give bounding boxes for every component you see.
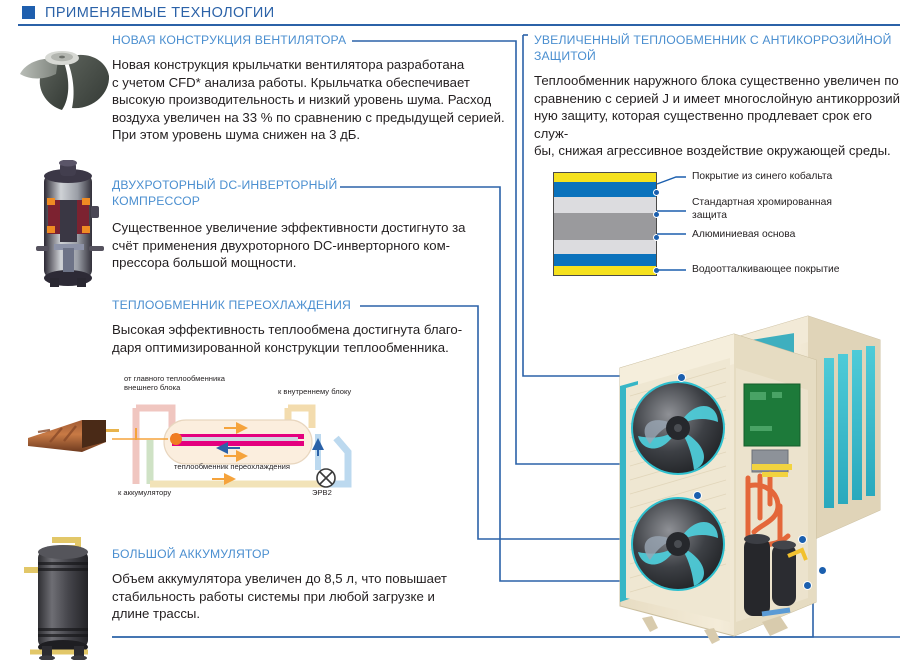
coating-layer-blue-cobalt-bot [554, 254, 656, 267]
coating-label-1: Покрытие из синего кобальта [692, 170, 832, 183]
callout-subcooling-text: Высокая эффективность теплообмена достиг… [112, 317, 502, 356]
coating-label-3: Алюминиевая основа [692, 228, 795, 241]
copper-pipe-icon [20, 408, 120, 462]
callout-accumulator: БОЛЬШОЙ АККУМУЛЯТОР [112, 547, 352, 563]
coating-layer-blue-cobalt-top [554, 182, 656, 197]
coating-layer-chrome-light-top [554, 197, 656, 213]
callout-subcooling-title: ТЕПЛООБМЕННИК ПЕРЕОХЛАЖДЕНИЯ [112, 298, 372, 314]
schematic-label-valve: ЭРВ2 [312, 488, 332, 497]
schematic-label-center: теплообменник переохлаждения [174, 462, 290, 471]
callout-compressor-body: Существенное увеличение эффективности до… [112, 219, 502, 272]
compressor-cutaway-icon [30, 160, 110, 290]
coating-label-2: Стандартная хромированная защита [692, 196, 832, 222]
schematic-label-to-accumulator: к аккумулятору [118, 488, 171, 497]
callout-compressor: ДВУХРОТОРНЫЙ DC-ИНВЕРТОРНЫЙ КОМПРЕССОР [112, 178, 352, 209]
callout-fan-text: Новая конструкция крыльчатки вентилятора… [112, 52, 512, 144]
coating-dot-3 [653, 234, 660, 241]
coating-dot-4 [653, 267, 660, 274]
fan-impeller-icon [14, 36, 114, 124]
dot-blue-coated-coil [677, 373, 686, 382]
callout-anticorrosion: УВЕЛИЧЕННЫЙ ТЕПЛООБМЕННИК С АНТИКОРРОЗИЙ… [534, 33, 900, 64]
accumulator-tank-icon [22, 528, 114, 660]
outdoor-unit-illustration [612, 306, 900, 658]
callout-anticorrosion-text: Теплообменник наружного блока существенн… [534, 68, 900, 160]
coating-dot-1 [653, 189, 660, 196]
schematic-label-to-indoor: к внутреннему блоку [278, 387, 351, 396]
callout-accumulator-title: БОЛЬШОЙ АККУМУЛЯТОР [112, 547, 352, 563]
callout-anticorrosion-body: Теплообменник наружного блока существенн… [534, 72, 900, 160]
coating-layer-yellow-bottom [554, 266, 656, 275]
dot-refrigerant-piping [798, 535, 807, 544]
callout-subcooling: ТЕПЛООБМЕННИК ПЕРЕОХЛАЖДЕНИЯ [112, 298, 372, 314]
dot-compressor [803, 581, 812, 590]
technology-overview-page: ПРИМЕНЯЕМЫЕ ТЕХНОЛОГИИ [0, 0, 900, 669]
coating-stack-diagram [553, 172, 657, 276]
callout-anticorrosion-title: УВЕЛИЧЕННЫЙ ТЕПЛООБМЕННИК С АНТИКОРРОЗИЙ… [534, 33, 900, 64]
callout-compressor-text: Существенное увеличение эффективности до… [112, 215, 502, 272]
callout-fan: НОВАЯ КОНСТРУКЦИЯ ВЕНТИЛЯТОРА [112, 33, 362, 49]
callout-fan-body: Новая конструкция крыльчатки вентилятора… [112, 56, 512, 144]
page-title: ПРИМЕНЯЕМЫЕ ТЕХНОЛОГИИ [45, 5, 275, 21]
schematic-label-from-main: от главного теплообменника внешнего блок… [124, 374, 225, 392]
dot-fan-impeller [693, 491, 702, 500]
coating-layer-chrome-light-bot [554, 240, 656, 253]
callout-accumulator-body: Объем аккумулятора увеличен до 8,5 л, чт… [112, 570, 502, 623]
page-header: ПРИМЕНЯЕМЫЕ ТЕХНОЛОГИИ [0, 0, 900, 25]
callout-accumulator-text: Объем аккумулятора увеличен до 8,5 л, чт… [112, 566, 502, 623]
coating-layer-yellow-top [554, 173, 656, 182]
coating-layer-aluminium-core [554, 213, 656, 240]
header-bullet-square [22, 6, 35, 19]
coating-dot-2 [653, 211, 660, 218]
coating-label-4: Водоотталкивающее покрытие [692, 263, 840, 276]
callout-compressor-title: ДВУХРОТОРНЫЙ DC-ИНВЕРТОРНЫЙ КОМПРЕССОР [112, 178, 352, 209]
callout-subcooling-body: Высокая эффективность теплообмена достиг… [112, 321, 502, 356]
callout-fan-title: НОВАЯ КОНСТРУКЦИЯ ВЕНТИЛЯТОРА [112, 33, 362, 49]
subcooling-heat-exchanger-schematic: от главного теплообменника внешнего блок… [112, 378, 392, 500]
coating-leader-1 [657, 177, 686, 184]
header-divider [18, 24, 900, 26]
dot-accumulator [818, 566, 827, 575]
